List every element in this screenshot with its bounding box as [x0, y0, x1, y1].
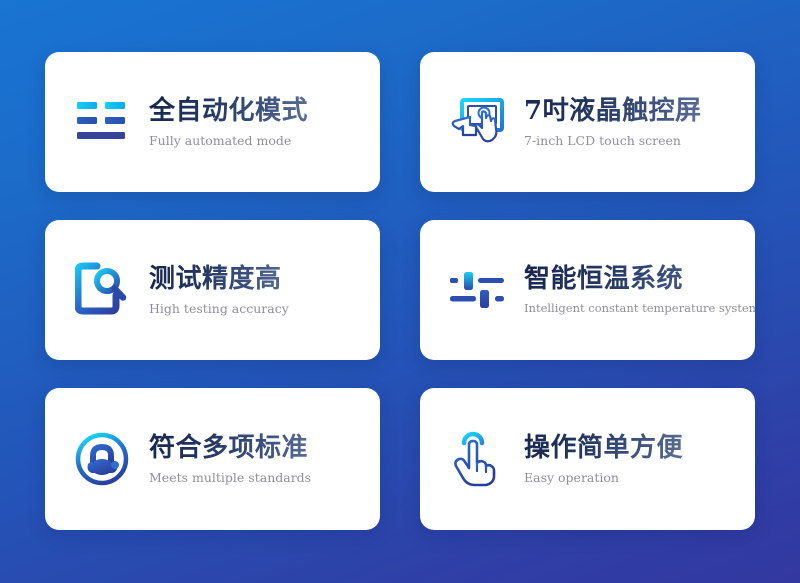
feature-card-standards[interactable]: 符合多项标准 Meets multiple standards — [45, 388, 380, 530]
feature-subtitle: Easy operation — [524, 470, 683, 485]
feature-card-text: 全自动化模式 Fully automated mode — [149, 96, 308, 149]
feature-subtitle: Meets multiple standards — [149, 470, 311, 485]
feature-card-text: 智能恒温系统 Intelligent constant temperature … — [524, 264, 733, 315]
document-magnifier-icon — [71, 259, 133, 321]
tap-hand-icon — [446, 428, 508, 490]
feature-title: 符合多项标准 — [149, 433, 311, 464]
headset-circle-icon — [71, 428, 133, 490]
feature-subtitle: 7-inch LCD touch screen — [524, 133, 702, 148]
feature-card-text: 7吋液晶触控屏 7-inch LCD touch screen — [524, 96, 702, 149]
feature-title: 7吋液晶触控屏 — [524, 96, 702, 127]
touch-screen-icon — [446, 91, 508, 153]
feature-title: 智能恒温系统 — [524, 264, 733, 295]
feature-subtitle: High testing accuracy — [149, 301, 289, 316]
feature-title: 全自动化模式 — [149, 96, 308, 127]
feature-title: 测试精度高 — [149, 264, 289, 295]
feature-subtitle: Intelligent constant temperature system — [524, 302, 733, 316]
feature-grid: 全自动化模式 Fully automated mode — [0, 0, 800, 583]
feature-subtitle: Fully automated mode — [149, 133, 308, 148]
feature-card-text: 符合多项标准 Meets multiple standards — [149, 433, 311, 486]
feature-title: 操作简单方便 — [524, 433, 683, 464]
feature-card-thermostat[interactable]: 智能恒温系统 Intelligent constant temperature … — [420, 220, 755, 360]
bars-automation-icon — [71, 91, 133, 153]
feature-card-text: 测试精度高 High testing accuracy — [149, 264, 289, 317]
slider-settings-icon — [446, 259, 508, 321]
feature-card-touchscreen[interactable]: 7吋液晶触控屏 7-inch LCD touch screen — [420, 52, 755, 192]
feature-card-text: 操作简单方便 Easy operation — [524, 433, 683, 486]
feature-card-automation[interactable]: 全自动化模式 Fully automated mode — [45, 52, 380, 192]
feature-card-accuracy[interactable]: 测试精度高 High testing accuracy — [45, 220, 380, 360]
feature-card-easy-operation[interactable]: 操作简单方便 Easy operation — [420, 388, 755, 530]
